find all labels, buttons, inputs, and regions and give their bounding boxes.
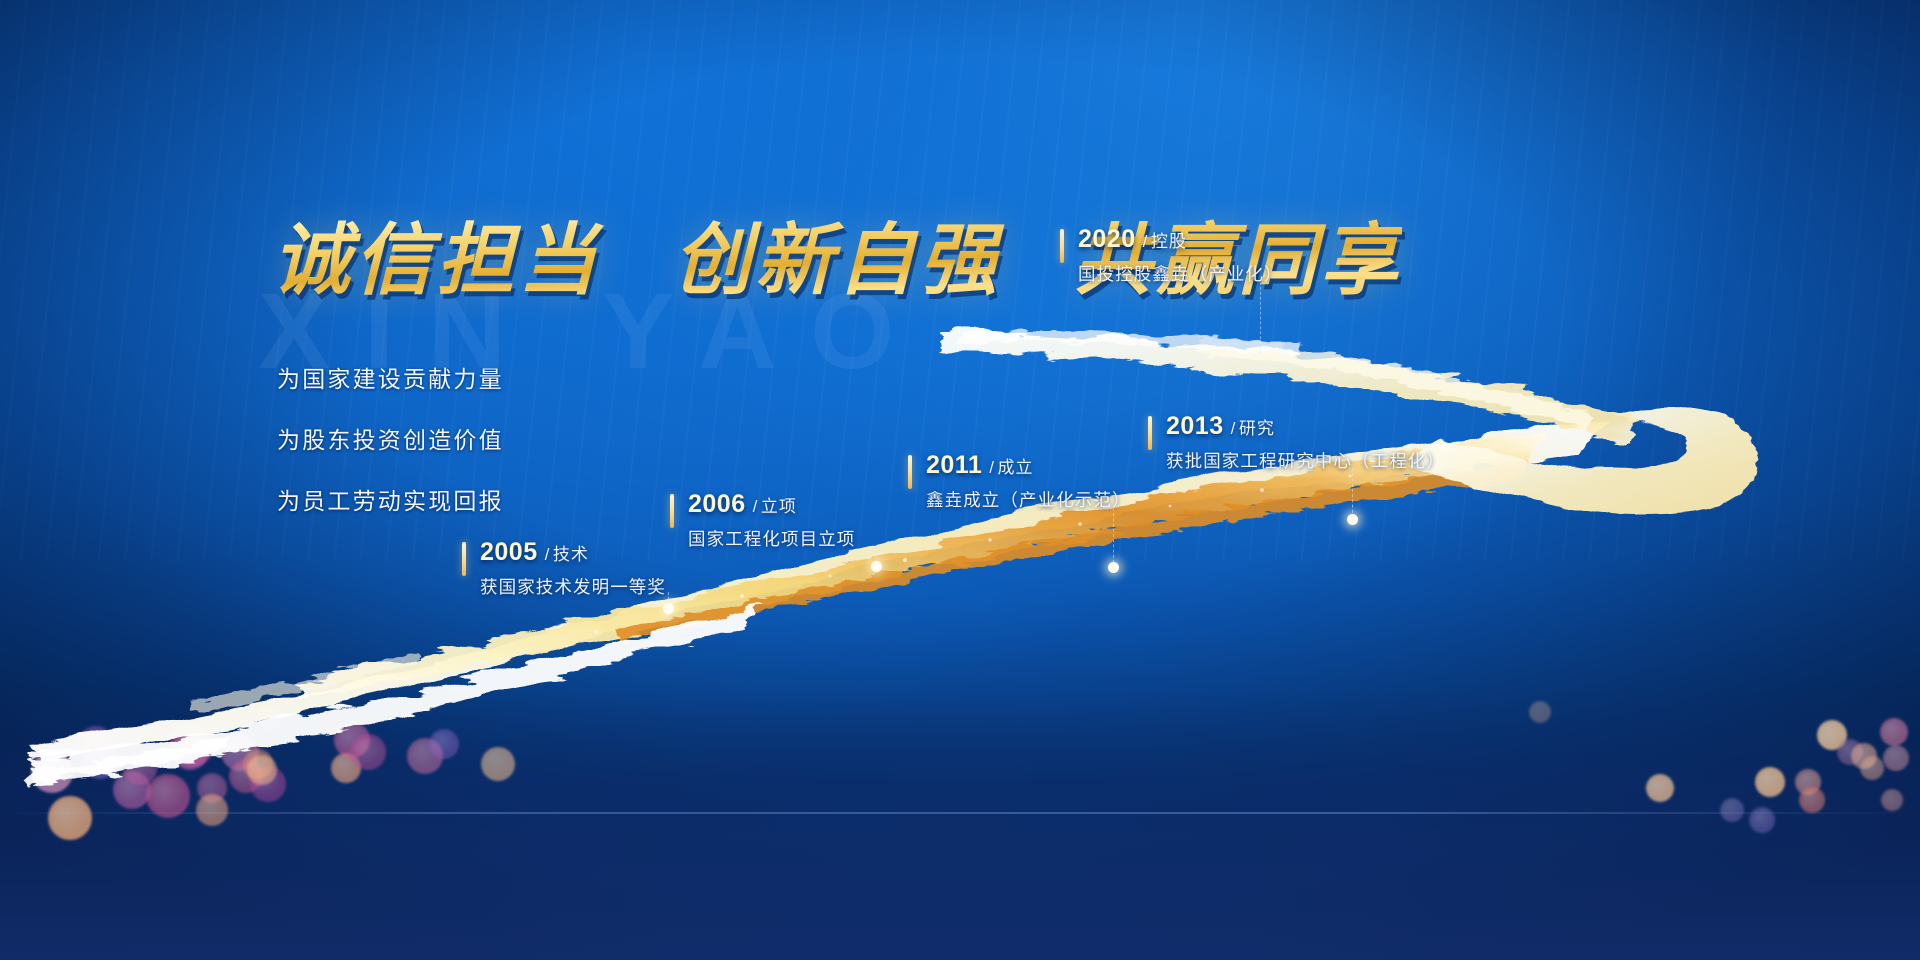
timeline-category: 研究 <box>1239 419 1275 438</box>
headline-part-2: 创新自强 <box>673 217 1001 304</box>
timeline-separator: / <box>1231 419 1236 438</box>
timeline-category: 控股 <box>1151 232 1187 251</box>
timeline-category: 立项 <box>761 497 797 516</box>
timeline-category: 技术 <box>553 545 589 564</box>
timeline-description: 鑫垚成立（产业化示范） <box>926 487 1131 512</box>
timeline-year-value: 2006 <box>688 490 746 518</box>
timeline-year: 2020/控股 <box>1078 225 1187 254</box>
timeline-accent-bar <box>1060 229 1064 263</box>
timeline-separator: / <box>545 545 550 564</box>
timeline-separator: / <box>1143 232 1148 251</box>
timeline-year-value: 2020 <box>1078 225 1136 253</box>
timeline-separator: / <box>989 458 994 477</box>
timeline-year-value: 2013 <box>1166 412 1224 440</box>
timeline-description: 获批国家工程研究中心（工程化） <box>1166 448 1445 473</box>
timeline-leader-line <box>1113 508 1114 563</box>
timeline-year: 2011/成立 <box>926 451 1033 480</box>
page-title: 诚信担当 创新自强 共赢同享 <box>272 198 1402 310</box>
timeline-description: 国家工程化项目立项 <box>688 526 855 551</box>
timeline-separator: / <box>753 497 758 516</box>
timeline-year: 2006/立项 <box>688 490 797 519</box>
timeline-year-value: 2005 <box>480 538 538 566</box>
timeline-year-value: 2011 <box>926 451 982 479</box>
timeline-accent-bar <box>462 542 466 576</box>
headline-part-1: 诚信担当 <box>272 217 600 304</box>
timeline-leader-line <box>1260 282 1261 354</box>
timeline-accent-bar <box>1148 416 1152 450</box>
poster-canvas: XIN YAO 诚信担当 创新自强 共赢同享 为国家建设贡献力量 为股东投资创造… <box>0 0 1920 960</box>
timeline-dot <box>663 603 674 614</box>
subtitle-list: 为国家建设贡献力量 为股东投资创造价值 为员工劳动实现回报 <box>277 360 504 543</box>
timeline-description: 获国家技术发明一等奖 <box>480 574 666 599</box>
timeline-year: 2005/技术 <box>480 538 589 567</box>
timeline-dot <box>1108 562 1119 573</box>
timeline-year: 2013/研究 <box>1166 412 1275 441</box>
subtitle-line-2: 为股东投资创造价值 <box>277 421 504 455</box>
timeline-accent-bar <box>908 455 912 489</box>
timeline-dot <box>871 561 882 572</box>
subtitle-line-1: 为国家建设贡献力量 <box>277 360 504 394</box>
timeline-accent-bar <box>670 494 674 528</box>
subtitle-line-3: 为员工劳动实现回报 <box>277 482 504 516</box>
timeline-dot <box>1347 514 1358 525</box>
timeline-category: 成立 <box>997 458 1033 477</box>
timeline-description: 国投控股鑫垚（产业化） <box>1078 261 1283 286</box>
timeline-leader-line <box>1352 468 1353 518</box>
